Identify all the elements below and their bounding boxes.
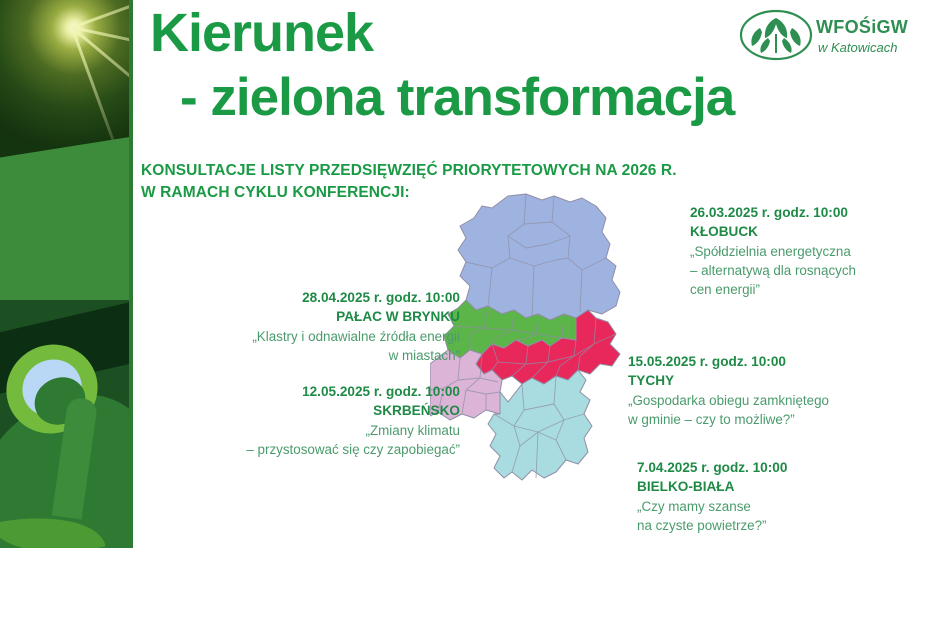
event-topic-line-2: – przystosować się czy zapobiegać” xyxy=(150,440,460,459)
page-title: Kierunek - zielona transformacja xyxy=(150,6,750,125)
event-topic-line-1: „Spółdzielnia energetyczna xyxy=(690,242,925,261)
event-topic-line-1: „Czy mamy szanse xyxy=(637,497,927,516)
event-klobuck: 26.03.2025 r. godz. 10:00 KŁOBUCK „Spółd… xyxy=(690,203,925,299)
event-topic-line-2: – alternatywą dla rosnących xyxy=(690,261,925,280)
event-date: 7.04.2025 r. godz. 10:00 xyxy=(637,458,927,477)
footer: Fundusze Europejskie na Infrastrukturę, … xyxy=(0,548,930,620)
event-date: 15.05.2025 r. godz. 10:00 xyxy=(628,352,928,371)
event-place: PAŁAC W BRYNKU xyxy=(185,307,460,326)
event-date: 12.05.2025 r. godz. 10:00 xyxy=(150,382,460,401)
event-topic-line-2: w gminie – czy to możliwe?” xyxy=(628,410,928,429)
event-date: 28.04.2025 r. godz. 10:00 xyxy=(185,288,460,307)
event-topic-line-3: cen energii” xyxy=(690,280,925,299)
poster: Kierunek - zielona transformacja KONSULT… xyxy=(0,0,930,620)
title-line-1: Kierunek xyxy=(150,3,373,63)
band-edge xyxy=(129,0,133,620)
logo-name: WFOŚiGW xyxy=(816,17,908,38)
event-place: BIELKO-BIAŁA xyxy=(637,477,927,496)
event-tychy: 15.05.2025 r. godz. 10:00 TYCHY „Gospoda… xyxy=(628,352,928,429)
map-region-south xyxy=(488,370,592,480)
wfosigw-logo: WFOŚiGW w Katowicach xyxy=(738,8,923,64)
decorative-green-band xyxy=(0,0,133,620)
event-skrbensko: 12.05.2025 r. godz. 10:00 SKRBEŃSKO „Zmi… xyxy=(150,382,460,459)
map-region-north xyxy=(458,194,620,320)
silesia-map xyxy=(430,188,650,553)
event-topic-line-1: „Klastry i odnawialne źródła energii xyxy=(185,327,460,346)
event-palac-w-brynku: 28.04.2025 r. godz. 10:00 PAŁAC W BRYNKU… xyxy=(185,288,460,365)
event-topic-line-2: w miastach” xyxy=(185,346,460,365)
event-date: 26.03.2025 r. godz. 10:00 xyxy=(690,203,925,222)
event-place: SKRBEŃSKO xyxy=(150,401,460,420)
event-place: KŁOBUCK xyxy=(690,222,925,241)
map-svg xyxy=(430,188,650,553)
title-line-2: - zielona transformacja xyxy=(180,71,750,125)
leaf-oval-icon xyxy=(738,8,814,62)
event-bielsko-biala: 7.04.2025 r. godz. 10:00 BIELKO-BIAŁA „C… xyxy=(637,458,927,535)
event-topic-line-2: na czyste powietrze?” xyxy=(637,516,927,535)
event-topic-line-1: „Zmiany klimatu xyxy=(150,421,460,440)
event-topic-line-1: „Gospodarka obiegu zamkniętego xyxy=(628,391,928,410)
subtitle-line-1: KONSULTACJE LISTY PRZEDSIĘWZIĘĆ PRIORYTE… xyxy=(141,160,781,182)
logo-subtitle: w Katowicach xyxy=(818,40,897,55)
event-place: TYCHY xyxy=(628,371,928,390)
